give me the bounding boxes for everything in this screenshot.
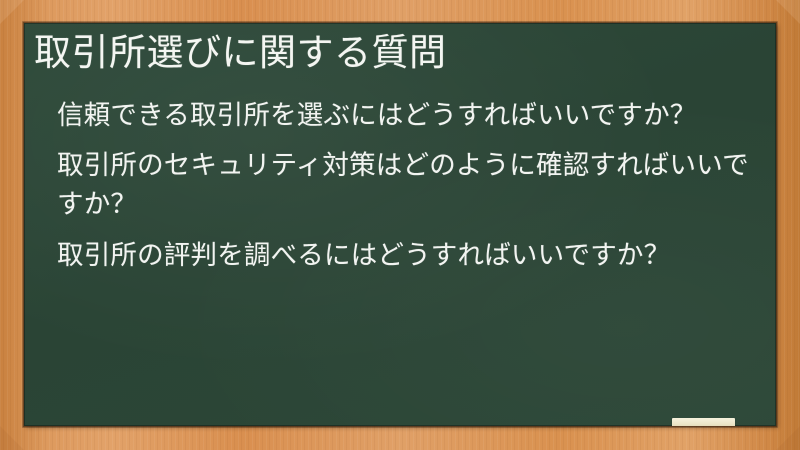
question-item: 取引所のセキュリティ対策はどのように確認すればいいですか？ [34,146,762,224]
question-item: 信頼できる取引所を選ぶにはどうすればいいですか？ [34,96,762,135]
question-list: 信頼できる取引所を選ぶにはどうすればいいですか？ 取引所のセキュリティ対策はどの… [34,96,762,286]
blackboard-slide: 取引所選びに関する質問 信頼できる取引所を選ぶにはどうすればいいですか？ 取引所… [0,0,800,450]
slide-title: 取引所選びに関する質問 [34,29,754,76]
question-item: 取引所の評判を調べるにはどうすればいいですか？ [34,236,762,275]
frame-mitre-bottom-right [776,426,800,450]
chalk-stick-icon [672,418,735,426]
frame-mitre-top-right [776,0,800,24]
frame-mitre-bottom-left [0,426,24,450]
chalkboard-surface: 取引所選びに関する質問 信頼できる取引所を選ぶにはどうすればいいですか？ 取引所… [24,23,776,426]
frame-mitre-top-left [0,0,24,24]
